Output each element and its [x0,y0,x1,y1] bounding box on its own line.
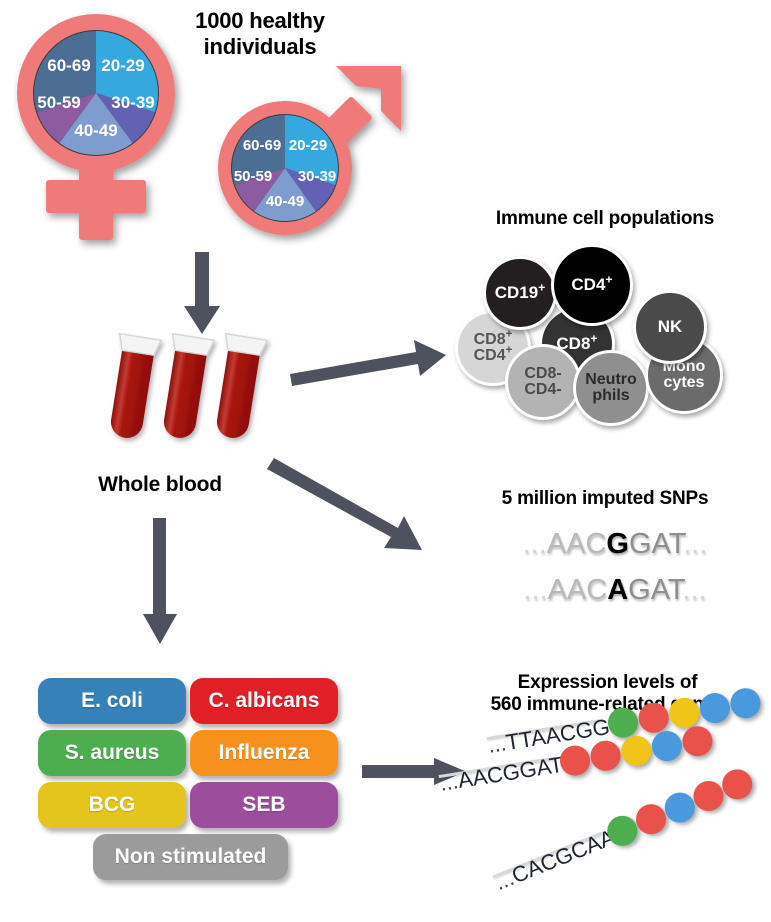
snp-pre: AAC [548,574,608,606]
strand-bases: CACGCAA [508,824,618,888]
snp-sequence-bottom: ...AACAGAT... [470,574,760,607]
female-age-label-40-49: 40-49 [74,121,117,140]
snp-suffix: ... [682,574,706,606]
snp-variant-allele: A [607,574,628,606]
stim-label: Non stimulated [115,845,267,869]
stim-label: E. coli [81,689,143,713]
blood-tube [104,334,161,441]
male-symbol: 20-29 30-39 40-49 50-59 60-69 [205,60,415,250]
expression-bead [650,729,684,763]
expression-bead [588,739,622,773]
snp-suffix: ... [683,528,707,560]
stim-bcg[interactable]: BCG [38,782,186,828]
study-design-diagram: 20-29 30-39 40-49 50-59 60-69 [0,0,771,922]
stimulation-conditions: E. coliC. albicansS. aureusInfluenzaBCGS… [38,678,338,878]
page-title-line1: 1000 healthy [160,8,360,34]
stim-c-albicans[interactable]: C. albicans [190,678,338,724]
female-age-label-50-59: 50-59 [37,93,80,112]
cell-label: NK [658,318,683,335]
stim-label: Influenza [218,741,309,765]
female-age-label-20-29: 20-29 [101,56,144,75]
stim-seb[interactable]: SEB [190,782,338,828]
snp-sequences: ...AACGGAT... ...AACAGAT... [470,528,760,618]
cell-label: CD8+ [474,332,513,348]
cell-label: CD4+ [474,348,513,364]
cell-label: CD4+ [571,276,612,293]
page-title: 1000 healthy individuals [160,8,360,60]
male-age-label-40-49: 40-49 [266,193,304,210]
snp-prefix: ... [523,574,547,606]
page-title-line2: individuals [160,34,360,60]
arrow-blood-to-immune [288,330,448,390]
strand-bases: AACGGAT [456,752,565,793]
male-age-label-20-29: 20-29 [289,137,327,154]
nk-cell[interactable]: NK [633,290,707,364]
stim-label: C. albicans [209,689,320,713]
neutrophils-cell[interactable]: Neutrophils [573,350,649,426]
stim-non-stimulated[interactable]: Non stimulated [93,834,288,880]
stim-influenza[interactable]: Influenza [190,730,338,776]
stim-label: BCG [89,793,136,817]
stim-label: S. aureus [65,741,160,765]
cell-label: phils [585,388,637,404]
snp-sequence-top: ...AACGGAT... [470,528,760,561]
snps-section-title: 5 million imputed SNPs [455,488,755,510]
immune-section-title: Immune cell populations [455,208,755,230]
blood-tubes [100,330,280,470]
expression-bead [680,724,714,758]
snp-post: GAT [628,574,682,606]
cell-label: CD19+ [495,284,546,301]
expression-bead [619,734,653,768]
cell-label: cytes [663,375,706,391]
arrow-blood-to-snps [272,450,447,560]
immune-cell-populations: CD19+CD4+NKCD8+CD4+CD8+CD8-CD4-Neutrophi… [455,238,755,418]
blood-tube [210,334,267,441]
female-age-label-30-39: 30-39 [111,93,154,112]
blood-tube [157,334,214,441]
cell-label: CD8- [524,366,561,382]
cell-label: CD4- [524,382,561,398]
snp-variant-allele: G [606,528,629,560]
stim-label: SEB [242,793,285,817]
expression-title-line1: Expression levels of [455,672,760,694]
male-age-label-30-39: 30-39 [298,168,336,185]
stim-e-coli[interactable]: E. coli [38,678,186,724]
stim-s-aureus[interactable]: S. aureus [38,730,186,776]
cell-label: Neutro [585,372,637,388]
snp-prefix: ... [523,528,547,560]
whole-blood-label: Whole blood [55,473,265,498]
expression-strands: ...TTAACGG...AACGGAT...CACGCAA [440,718,771,913]
arrow-cohort-to-blood [182,252,222,337]
snp-post: GAT [629,528,683,560]
strand-sequence: ...AACGGAT [438,752,565,797]
arrow-blood-to-stimulation [140,518,180,648]
female-age-label-60-69: 60-69 [47,56,90,75]
cd4-cell[interactable]: CD4+ [551,244,633,326]
snp-pre: AAC [547,528,607,560]
strand-sequence: ...CACGCAA [491,824,619,896]
male-age-label-60-69: 60-69 [243,137,281,154]
cd8-cd4-neg-cell[interactable]: CD8-CD4- [505,344,581,420]
cd19-cell[interactable]: CD19+ [483,256,557,330]
male-age-label-50-59: 50-59 [234,168,272,185]
